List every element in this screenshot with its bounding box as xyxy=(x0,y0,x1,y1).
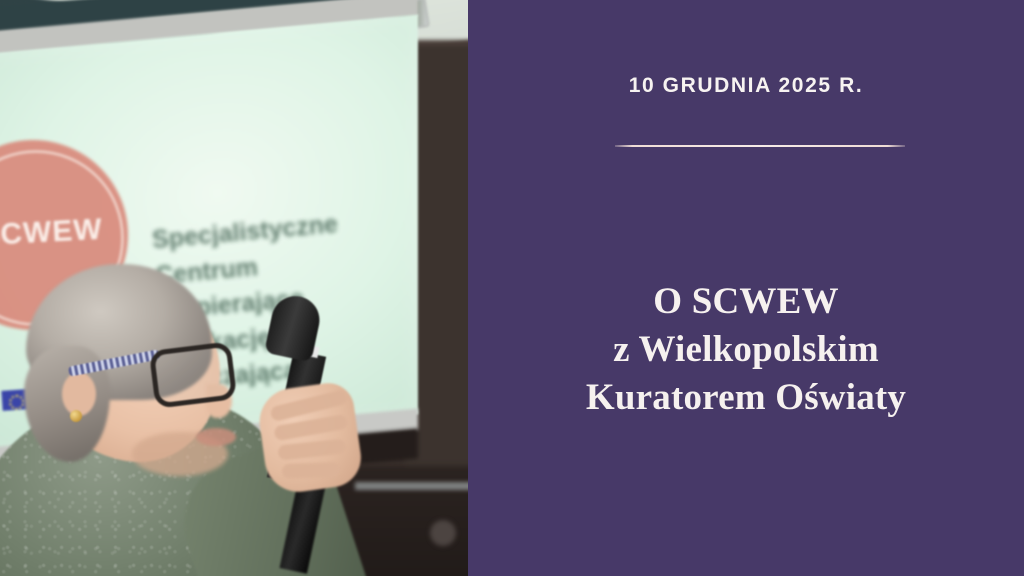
speaker-photo: SCWEW Specjalistyczne Centrum Wspierając… xyxy=(0,0,468,576)
finger-4 xyxy=(282,462,340,479)
headline-line-2: z Wielkopolskim xyxy=(468,326,1024,374)
slide-headline: O SCWEW z Wielkopolskim Kuratorem Oświat… xyxy=(468,278,1024,422)
event-date: 10 GRUDNIA 2025 R. xyxy=(468,74,1024,98)
presentation-slide: SCWEW Specjalistyczne Centrum Wspierając… xyxy=(0,0,1024,576)
furniture-highlight xyxy=(355,482,468,490)
title-divider xyxy=(615,145,905,147)
title-panel: 10 GRUDNIA 2025 R. O SCWEW z Wielkopolsk… xyxy=(468,0,1024,576)
earring xyxy=(70,410,82,422)
speaker-ear xyxy=(62,372,96,416)
headline-line-1: O SCWEW xyxy=(468,278,1024,326)
glasses-lens xyxy=(149,341,237,409)
speaker-figure xyxy=(0,280,370,576)
speaker-lips xyxy=(196,428,236,446)
furniture-knob xyxy=(430,520,456,546)
headline-line-3: Kuratorem Oświaty xyxy=(468,374,1024,422)
